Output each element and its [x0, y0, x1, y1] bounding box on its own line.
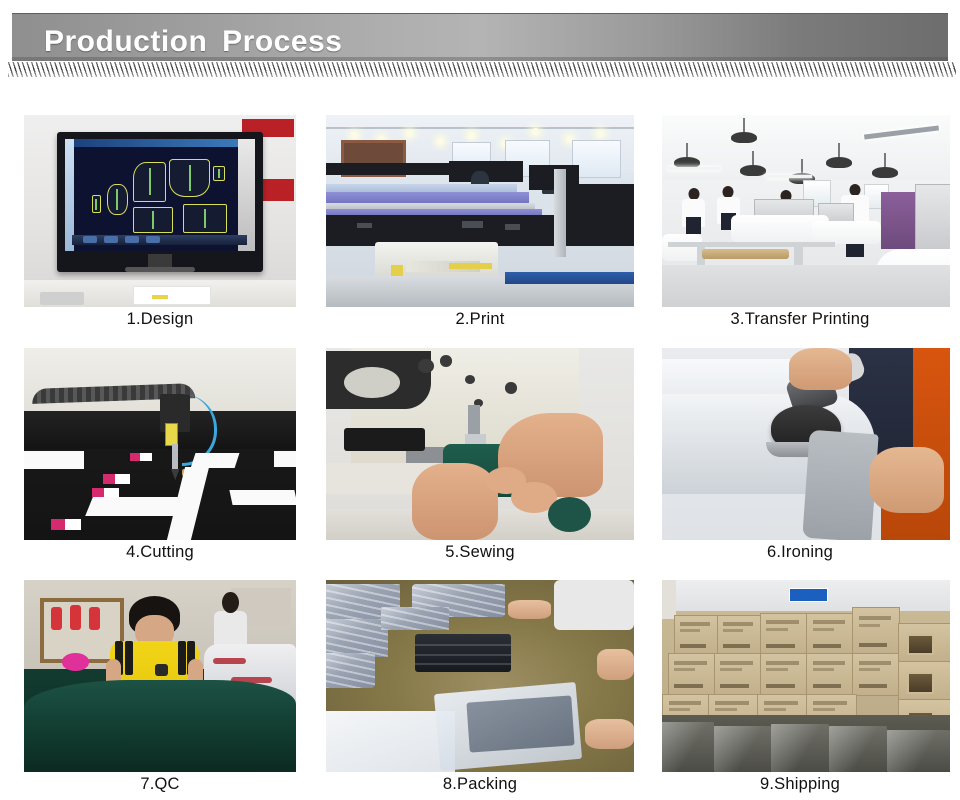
page-header: Production Process: [0, 0, 960, 86]
process-photo-design: [24, 115, 296, 307]
process-photo-packing: [326, 580, 634, 772]
page-title: Production Process: [44, 25, 342, 59]
caption-step-1: 1.Design: [0, 310, 320, 329]
process-step-8[interactable]: 8.Packing: [320, 567, 640, 800]
process-photo-print: [326, 115, 634, 307]
process-step-5[interactable]: 5.Sewing: [320, 335, 640, 568]
caption-step-7: 7.QC: [0, 775, 320, 794]
process-photo-ironing: [662, 348, 950, 540]
process-grid: 1.Design: [0, 102, 960, 800]
caption-step-9: 9.Shipping: [640, 775, 960, 794]
caption-step-3: 3.Transfer Printing: [640, 310, 960, 329]
process-photo-sewing: [326, 348, 634, 540]
process-photo-qc: [24, 580, 296, 772]
caption-step-2: 2.Print: [320, 310, 640, 329]
process-step-2[interactable]: 2.Print: [320, 102, 640, 335]
process-step-6[interactable]: 6.Ironing: [640, 335, 960, 568]
process-photo-transfer-printing: [662, 115, 950, 307]
process-photo-cutting: [24, 348, 296, 540]
caption-step-8: 8.Packing: [320, 775, 640, 794]
hatched-divider: [8, 62, 956, 77]
process-step-7[interactable]: 7.QC: [0, 567, 320, 800]
header-gradient-bar: Production Process: [12, 13, 948, 61]
process-step-3[interactable]: 3.Transfer Printing: [640, 102, 960, 335]
caption-step-5: 5.Sewing: [320, 543, 640, 562]
process-step-1[interactable]: 1.Design: [0, 102, 320, 335]
caption-step-6: 6.Ironing: [640, 543, 960, 562]
caption-step-4: 4.Cutting: [0, 543, 320, 562]
process-step-4[interactable]: 4.Cutting: [0, 335, 320, 568]
process-photo-shipping: [662, 580, 950, 772]
process-step-9[interactable]: 9.Shipping: [640, 567, 960, 800]
